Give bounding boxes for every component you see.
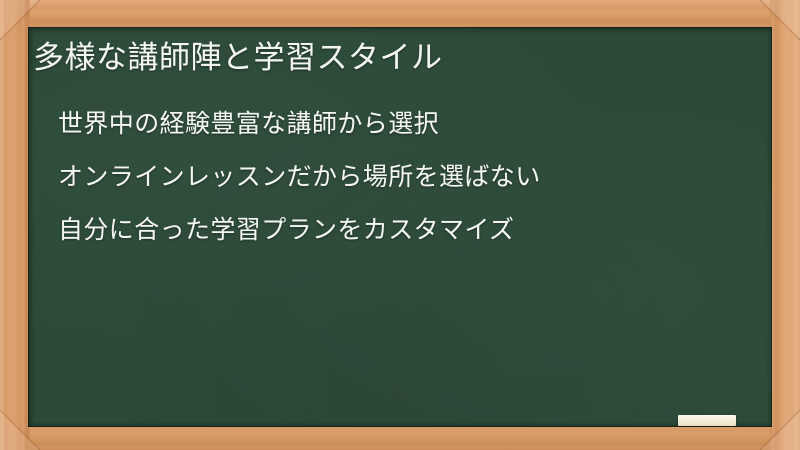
bullet-list: 世界中の経験豊富な講師から選択 オンラインレッスンだから場所を選ばない 自分に合… [58,112,758,271]
frame-stile-right [770,0,800,450]
chalk-stick [678,415,736,426]
chalkboard-surface: 多様な講師陣と学習スタイル 世界中の経験豊富な講師から選択 オンラインレッスンだ… [28,27,772,427]
bullet-item-3: 自分に合った学習プランをカスタマイズ [58,218,758,243]
bullet-item-1: 世界中の経験豊富な講師から選択 [58,112,758,137]
frame-rail-top [0,0,800,27]
frame-rail-bottom [0,427,800,450]
frame-stile-left [0,0,30,450]
slide-title: 多様な講師陣と学習スタイル [33,39,753,78]
bullet-item-2: オンラインレッスンだから場所を選ばない [58,165,758,190]
chalkboard-slide: 多様な講師陣と学習スタイル 世界中の経験豊富な講師から選択 オンラインレッスンだ… [0,0,800,450]
